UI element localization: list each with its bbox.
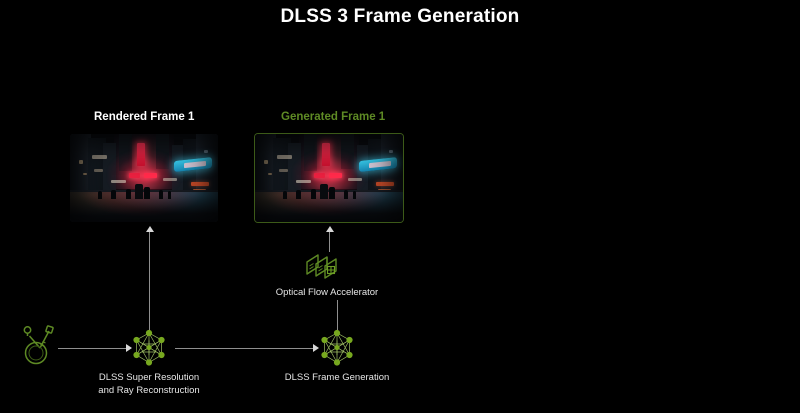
slide-canvas: DLSS 3 Frame Generation Rendered Frame 1 [0, 0, 800, 413]
optical-flow-accelerator-icon [303, 252, 351, 288]
scene-vignette [70, 134, 218, 222]
arrow-optical-flow-to-generated-frame [329, 232, 331, 252]
arrow-head-up [326, 226, 334, 232]
neural-network-icon [318, 329, 356, 367]
generated-frame-caption: Generated Frame 1 [281, 111, 385, 123]
dlss-super-resolution-node[interactable] [130, 329, 168, 372]
neural-network-icon [130, 329, 168, 367]
game-engine-icon [16, 322, 62, 368]
optical-flow-accelerator-label: Optical Flow Accelerator [260, 287, 394, 298]
arrow-source-to-super-resolution [58, 348, 126, 350]
rendered-frame-thumbnail [70, 134, 218, 222]
game-engine-node[interactable] [16, 322, 62, 373]
dlss-frame-generation-node[interactable] [318, 329, 356, 372]
scene-vignette [255, 134, 403, 222]
city-scene-render [70, 134, 218, 222]
arrow-super-resolution-to-frame-generation [175, 348, 313, 350]
arrow-super-resolution-to-rendered-frame [149, 232, 151, 332]
city-scene-generated [255, 134, 403, 222]
arrow-frame-generation-to-generated-frame [337, 300, 339, 332]
dlss-frame-generation-label: DLSS Frame Generation [267, 371, 407, 384]
generated-frame-thumbnail [255, 134, 403, 222]
page-title: DLSS 3 Frame Generation [0, 6, 800, 28]
arrow-head-up [146, 226, 154, 232]
dlss-super-resolution-label: DLSS Super Resolution and Ray Reconstruc… [79, 371, 219, 397]
rendered-frame-caption: Rendered Frame 1 [94, 111, 194, 123]
